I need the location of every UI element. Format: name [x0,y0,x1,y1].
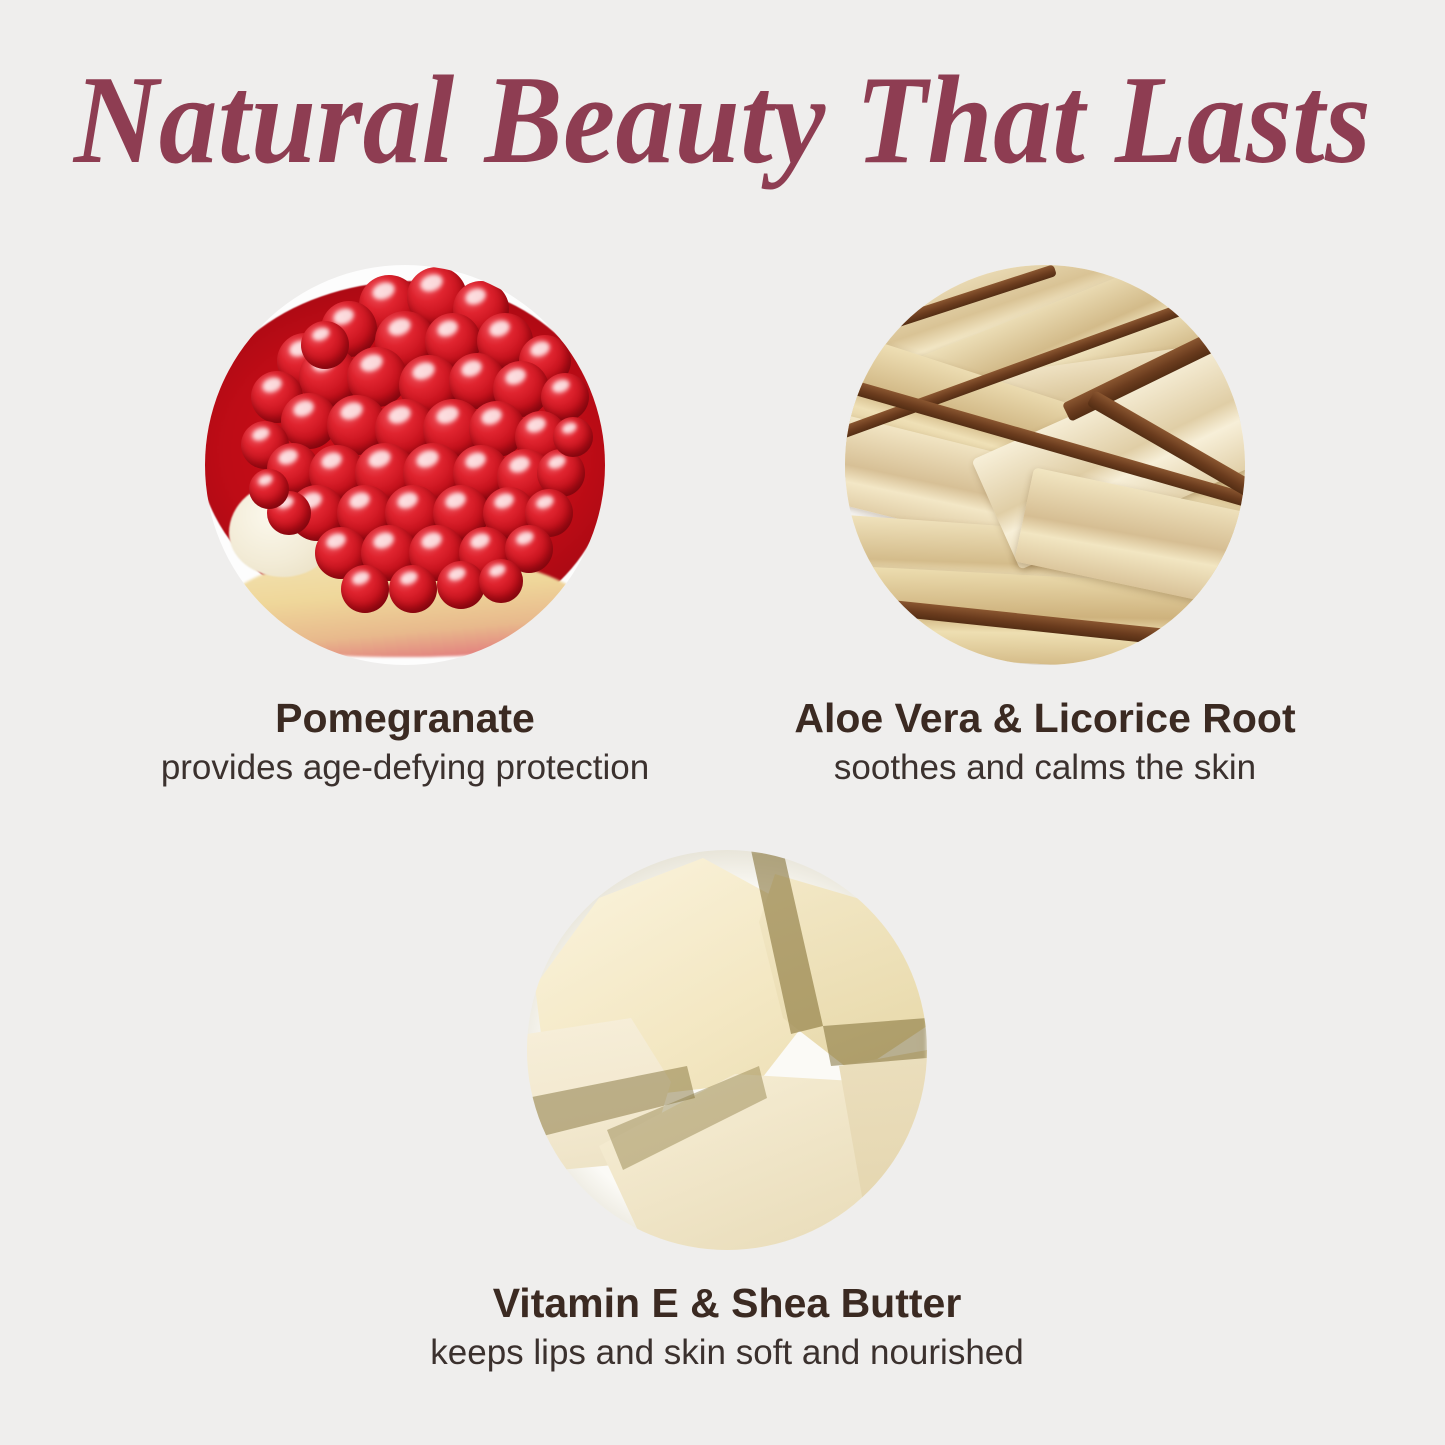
licorice-root-slices-photo [845,265,1245,665]
pomegranate-aril [301,321,349,369]
ingredient-name-aloe-licorice: Aloe Vera & Licorice Root [645,697,1445,740]
pomegranate-photo-canvas [205,265,605,665]
ingredient-card-vitamin-e-shea: Vitamin E & Shea Butter keeps lips and s… [327,850,1127,1372]
ingredient-name-vitamin-e-shea: Vitamin E & Shea Butter [327,1282,1127,1325]
ingredient-description-vitamin-e-shea: keeps lips and skin soft and nourished [327,1333,1127,1372]
ingredient-card-aloe-licorice: Aloe Vera & Licorice Root soothes and ca… [645,265,1445,787]
infographic-page: Natural Beauty That Lasts Pomegranate pr… [0,0,1445,1445]
page-title: Natural Beauty That Lasts [51,58,1395,184]
pomegranate-aril [249,469,289,509]
pomegranate-aril [479,559,523,603]
pomegranate-aril [341,565,389,613]
shea-butter-chunks-photo [527,850,927,1250]
shea-photo-canvas [527,850,927,1250]
pomegranate-aril [553,417,593,457]
pomegranate-aril [389,565,437,613]
pomegranate-arils-photo [205,265,605,665]
pomegranate-aril [437,561,485,609]
ingredient-description-aloe-licorice: soothes and calms the skin [645,748,1445,787]
licorice-photo-canvas [845,265,1245,665]
